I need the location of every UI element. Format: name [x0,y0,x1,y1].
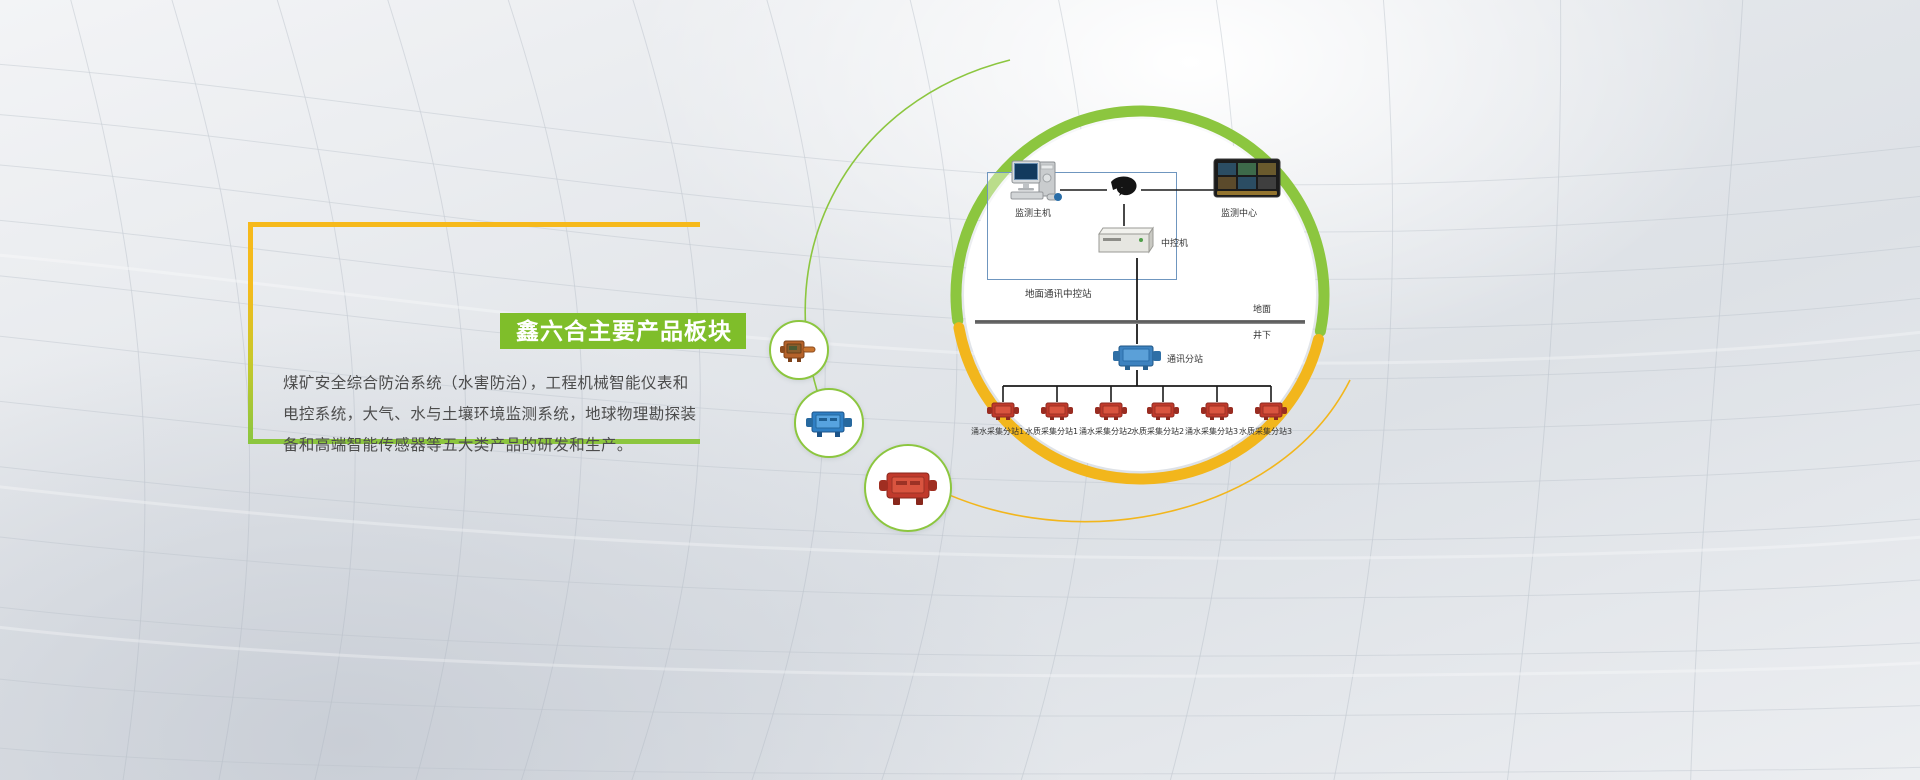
leaf-node-label-5: 涌水采集分站3 [1185,426,1238,437]
explosion-proof-box-red-icon [879,468,937,508]
leaf-node-icon-1 [987,400,1017,422]
promo-title-band: 鑫六合主要产品板块 [500,313,746,349]
leaf-node-label-2: 水质采集分站1 [1025,426,1078,437]
leaf-node-label-6: 水质采集分站3 [1239,426,1292,437]
leaf-node-icon-3 [1095,400,1125,422]
leaf-node-icon-5 [1201,400,1231,422]
promo-paragraph: 煤矿安全综合防治系统（水害防治），工程机械智能仪表和 电控系统，大气、水与土壤环… [283,368,703,461]
product-bubble-brown[interactable] [769,320,829,380]
promo-panel: 鑫六合主要产品板块 煤矿安全综合防治系统（水害防治），工程机械智能仪表和 电控系… [248,222,700,444]
leaf-node-icon-4 [1147,400,1177,422]
network-lightning-icon [1107,174,1141,211]
surface-control-room-label: 地面通讯中控站 [1025,286,1092,300]
explosion-proof-box-blue-icon [806,408,852,438]
under-ground-label: 井下 [1253,328,1271,341]
monitoring-center-icon [1213,158,1281,207]
leaf-node-icon-6 [1255,400,1285,422]
ground-level-divider [975,320,1305,324]
above-ground-label: 地面 [1253,302,1271,315]
system-topology-diagram: 监测主机 监测中心 [965,130,1325,450]
paragraph-line-3: 备和高端智能传感器等五大类产品的研发和生产。 [283,430,703,461]
central-controller-icon [1093,224,1155,263]
communication-substation-icon [1113,342,1161,377]
product-system-graphic: 监测主机 监测中心 [760,40,1380,560]
explosion-proof-box-brown-icon [780,337,818,363]
product-bubble-red[interactable] [864,444,952,532]
leaf-node-label-1: 涌水采集分站1 [971,426,1024,437]
leaf-node-icon-2 [1041,400,1071,422]
leaf-node-label-3: 涌水采集分站2 [1079,426,1132,437]
monitor-host-icon [1009,158,1075,209]
product-bubble-blue[interactable] [794,388,864,458]
leaf-node-label-4: 水质采集分站2 [1131,426,1184,437]
central-controller-label: 中控机 [1161,236,1188,249]
monitoring-center-label: 监测中心 [1221,206,1257,219]
paragraph-line-2: 电控系统，大气、水与土壤环境监测系统，地球物理勘探装 [283,399,703,430]
page-title: 鑫六合主要产品板块 [516,313,732,349]
monitor-host-label: 监测主机 [1015,206,1051,219]
communication-substation-label: 通讯分站 [1167,352,1203,365]
paragraph-line-1: 煤矿安全综合防治系统（水害防治），工程机械智能仪表和 [283,368,703,399]
